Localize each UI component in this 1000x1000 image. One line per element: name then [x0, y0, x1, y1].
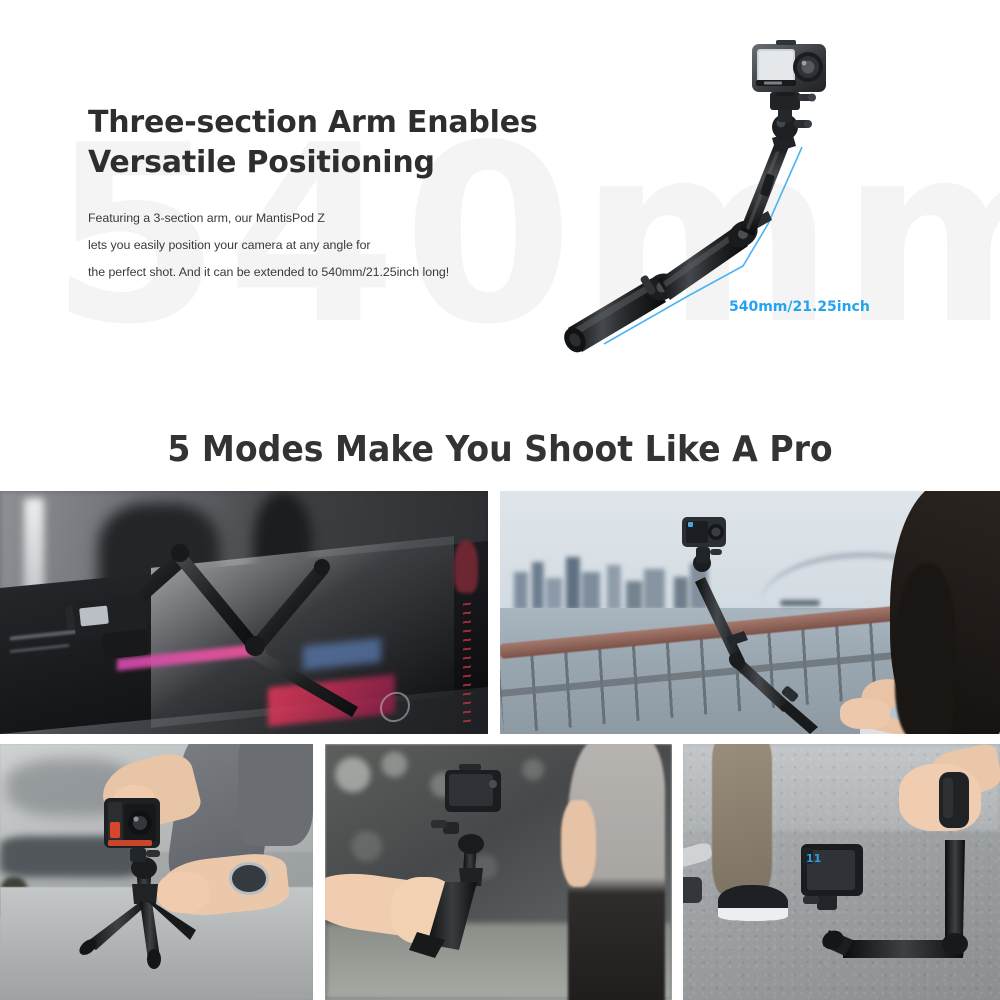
svg-text:11: 11	[806, 852, 821, 865]
hero-text-block: Three-section Arm Enables Versatile Posi…	[88, 103, 558, 286]
modes-section-title: 5 Modes Make You Shoot Like A Pro	[40, 429, 960, 470]
photo-selfie-mode	[500, 491, 1000, 734]
hero-body-line1: Featuring a 3-section arm, our MantisPod…	[88, 205, 558, 232]
photo-low-angle-mode: 11	[683, 744, 1000, 1000]
modes-photo-grid: 11	[0, 491, 1000, 1000]
action-camera	[752, 40, 826, 92]
measurement-label: 540mm/21.25inch	[729, 299, 870, 315]
hero-description: Featuring a 3-section arm, our MantisPod…	[88, 205, 558, 286]
selfie-pole	[500, 491, 1000, 734]
hero-title-line1: Three-section Arm Enables	[88, 105, 538, 140]
hero-title-line2: Versatile Positioning	[88, 145, 435, 180]
hero-section: 540mm Three-section Arm Enables Versatil…	[0, 0, 1000, 400]
desk-mounted-arm	[0, 491, 488, 734]
tripod-setup	[0, 744, 313, 1000]
hero-body-line3: the perfect shot. And it can be extended…	[88, 259, 558, 286]
hero-title: Three-section Arm Enables Versatile Posi…	[88, 103, 558, 182]
photo-tripod-mode	[0, 744, 313, 1000]
photo-desk-mode	[0, 491, 488, 734]
photo-handheld-mode	[325, 744, 672, 1000]
low-angle-arm: 11	[683, 744, 1000, 1000]
ball-head	[772, 108, 812, 152]
product-image-three-section-arm	[540, 34, 890, 379]
handheld-grip	[325, 744, 672, 1000]
hero-body-line2: lets you easily position your camera at …	[88, 232, 558, 259]
